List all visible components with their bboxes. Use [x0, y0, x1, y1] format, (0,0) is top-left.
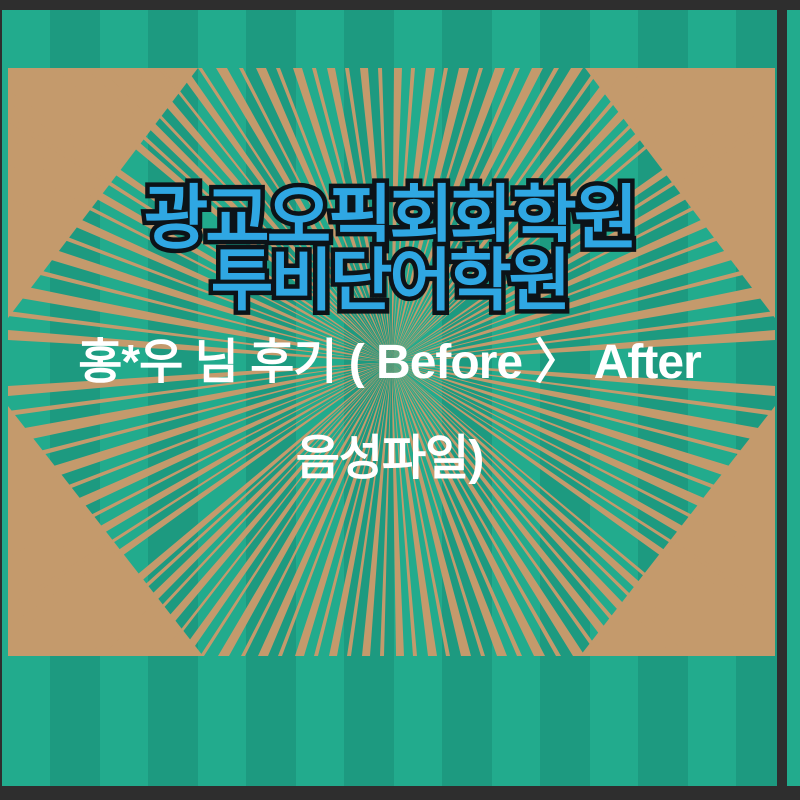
poster-canvas: 광교오픽회화학원 투비단어학원 홍*우 님 후기 ( Before 〉 Afte…	[0, 0, 800, 800]
teal-background	[2, 10, 777, 786]
right-edge-teal-strip	[787, 10, 800, 786]
vertical-stripes	[2, 10, 777, 786]
